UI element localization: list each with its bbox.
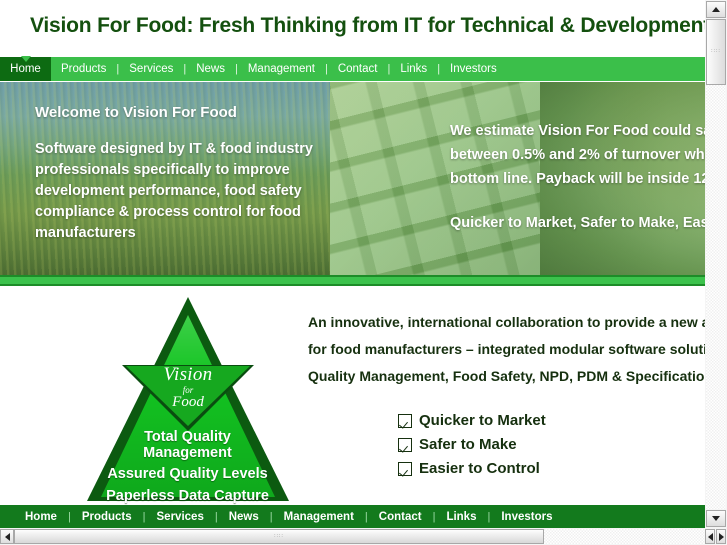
scroll-right-button-corner[interactable]	[716, 529, 726, 544]
vision-for-food-logo: Vision for Food	[122, 365, 254, 410]
footer-item-products[interactable]: Products	[71, 511, 143, 523]
pyramid-labels: Total Quality Management Assured Quality…	[60, 430, 315, 505]
nav-item-services[interactable]: Services	[119, 57, 183, 81]
intro-line-2: Quality Management, Food Safety, NPD, PD…	[308, 363, 705, 390]
nav-item-products[interactable]: Products	[51, 57, 116, 81]
nav-item-home[interactable]: Home	[0, 57, 51, 81]
footer-item-links[interactable]: Links	[435, 511, 487, 523]
browser-viewport: Vision For Food: Fresh Thinking from IT …	[0, 0, 727, 545]
pyramid-label-0: Total Quality	[60, 430, 315, 446]
nav-item-management[interactable]: Management	[238, 57, 325, 81]
banner-heading: Welcome to Vision For Food	[35, 104, 375, 121]
scrollbar-corner	[705, 528, 727, 545]
footer-item-home[interactable]: Home	[14, 511, 68, 523]
page-content-area: Vision For Food: Fresh Thinking from IT …	[0, 0, 705, 528]
checkbox-checked-icon	[398, 438, 412, 452]
footer-item-management[interactable]: Management	[273, 511, 365, 523]
checklist-item: Quicker to Market	[398, 412, 546, 429]
arrow-right-icon	[719, 533, 724, 541]
checklist-item: Easier to Control	[398, 460, 546, 477]
checklist-item: Safer to Make	[398, 436, 546, 453]
scroll-left-button[interactable]	[0, 529, 14, 544]
horizontal-scroll-thumb[interactable]: ∷∷	[14, 529, 544, 544]
vertical-scroll-thumb[interactable]: ∷∷	[706, 19, 726, 85]
intro-line-0: An innovative, international collaborati…	[308, 309, 705, 336]
footer-item-services[interactable]: Services	[146, 511, 215, 523]
footer-item-news[interactable]: News	[218, 511, 270, 523]
vertical-scrollbar[interactable]: ∷∷	[705, 0, 727, 528]
primary-navigation: Home Products | Services | News | Manage…	[0, 57, 705, 81]
banner-left-text: Welcome to Vision For Food Software desi…	[35, 104, 375, 244]
checkbox-checked-icon	[398, 462, 412, 476]
arrow-left-icon	[5, 533, 10, 541]
nav-item-links[interactable]: Links	[390, 57, 437, 81]
scroll-grip-icon: ∷∷	[274, 535, 284, 538]
arrow-down-icon	[712, 516, 720, 521]
banner-left-body: Software designed by IT & food industry …	[35, 139, 375, 244]
pyramid-label-2: Assured Quality Levels	[60, 466, 315, 483]
footer-navigation: Home | Products | Services | News | Mana…	[0, 505, 705, 528]
banner-right-text: We estimate Vision For Food could save m…	[450, 119, 705, 231]
horizontal-scrollbar[interactable]: ∷∷	[0, 528, 705, 545]
quality-pyramid-graphic: Vision for Food Total Quality Management…	[60, 293, 315, 505]
section-divider	[0, 275, 705, 286]
page-title: Vision For Food: Fresh Thinking from IT …	[0, 14, 705, 38]
hero-banner: Welcome to Vision For Food Software desi…	[0, 82, 705, 275]
logo-line-vision: Vision	[122, 365, 254, 385]
checkbox-checked-icon	[398, 414, 412, 428]
horizontal-scroll-track[interactable]	[544, 529, 705, 544]
pyramid-label-1: Management	[60, 446, 315, 462]
scroll-up-button[interactable]	[706, 1, 726, 18]
arrow-left-icon	[708, 533, 713, 541]
page-inner: Vision For Food: Fresh Thinking from IT …	[0, 0, 705, 528]
benefits-checklist: Quicker to Market Safer to Make Easier t…	[398, 412, 546, 484]
banner-tagline: Quicker to Market, Safer to Make, Easier…	[450, 215, 705, 231]
checklist-label-0: Quicker to Market	[419, 412, 546, 429]
footer-item-contact[interactable]: Contact	[368, 511, 433, 523]
scroll-grip-icon: ∷∷	[711, 51, 721, 54]
pyramid-label-3: Paperless Data Capture	[60, 488, 315, 505]
scroll-left-button-corner[interactable]	[705, 529, 715, 544]
checklist-label-1: Safer to Make	[419, 436, 517, 453]
footer-item-investors[interactable]: Investors	[490, 511, 563, 523]
checklist-label-2: Easier to Control	[419, 460, 540, 477]
nav-item-investors[interactable]: Investors	[440, 57, 507, 81]
arrow-up-icon	[712, 7, 720, 12]
banner-right-body: We estimate Vision For Food could save m…	[450, 119, 705, 191]
nav-item-home-label: Home	[10, 63, 41, 75]
intro-line-1: for food manufacturers – integrated modu…	[308, 336, 705, 363]
logo-line-food: Food	[122, 395, 254, 410]
nav-item-contact[interactable]: Contact	[328, 57, 388, 81]
main-content: Vision for Food Total Quality Management…	[0, 293, 705, 505]
scroll-down-button[interactable]	[706, 510, 726, 527]
vertical-scroll-track[interactable]	[706, 85, 726, 509]
nav-item-news[interactable]: News	[186, 57, 235, 81]
intro-paragraphs: An innovative, international collaborati…	[308, 309, 705, 390]
